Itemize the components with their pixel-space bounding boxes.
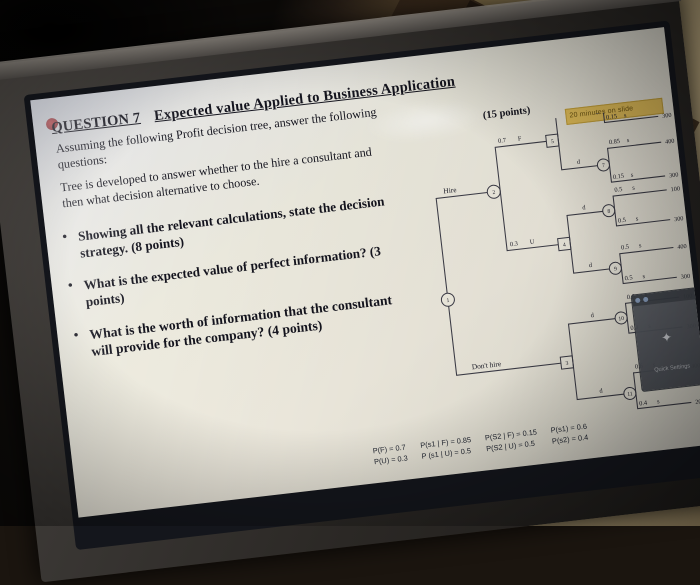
- tree-state-favorable: F: [518, 135, 523, 142]
- widget-dot-icon: [643, 297, 649, 303]
- tree-state-label: s: [632, 184, 636, 191]
- widget-caption: Quick Settings: [644, 362, 700, 374]
- side-popup-window[interactable]: ✦ Quick Settings: [631, 287, 700, 392]
- tree-prob-n9-b: 0.5: [624, 274, 633, 282]
- tree-decision-label: d: [577, 159, 582, 166]
- tree-prob-n7-b: 0.15: [613, 173, 625, 181]
- tree-decision-label: d: [590, 312, 595, 319]
- tree-prob-n7-a: 0.85: [609, 138, 621, 146]
- tree-state-label: s: [642, 273, 646, 280]
- tree-payoff: 100: [670, 185, 680, 193]
- tree-prob-n8-b: 0.5: [618, 217, 627, 225]
- tree-state-label: s: [626, 137, 630, 144]
- tree-prob-n11-b: 0.4: [639, 399, 649, 407]
- laptop-device: QUESTION 7 Expected value Applied to Bus…: [0, 0, 700, 577]
- probability-column: P(s1) = 0.6 P(s2) = 0.4: [550, 421, 589, 448]
- tree-payoff: 300: [669, 171, 679, 179]
- tree-state-label: s: [657, 398, 661, 405]
- tree-node-11: 11: [627, 391, 633, 398]
- tree-state-label: s: [630, 172, 634, 179]
- tree-state-unfavorable: U: [529, 238, 535, 246]
- tree-prob-n9-a: 0.5: [621, 244, 630, 252]
- tree-payoff: 400: [677, 243, 687, 251]
- widget-dot-icon: [635, 298, 641, 304]
- tree-decision-label: d: [599, 387, 604, 394]
- tree-payoff: 300: [674, 215, 684, 223]
- tree-prob-n8-a: 0.5: [614, 186, 623, 194]
- question-label: QUESTION 7: [51, 110, 142, 136]
- tree-node-10: 10: [618, 316, 624, 323]
- tree-decision-label: d: [582, 204, 587, 211]
- tree-decision-label: d: [589, 262, 594, 269]
- tree-prob-unfavorable: 0.3: [510, 240, 519, 248]
- tree-prob-favorable: 0.7: [498, 137, 508, 145]
- tree-state-label: s: [624, 112, 628, 119]
- tree-state-label: s: [635, 215, 639, 222]
- spinner-icon: ✦: [658, 329, 676, 347]
- tree-payoff: 300: [680, 273, 690, 281]
- points-note: (15 points): [482, 105, 531, 121]
- presentation-slide: QUESTION 7 Expected value Applied to Bus…: [30, 27, 700, 518]
- tree-branch-dont-hire-label: Don't hire: [471, 359, 502, 371]
- tree-payoff: 400: [665, 138, 675, 146]
- tree-payoff: 300: [662, 112, 672, 120]
- tree-payoff: 200: [695, 398, 700, 406]
- tree-branch-hire-label: Hire: [443, 185, 458, 196]
- laptop-screen[interactable]: QUESTION 7 Expected value Applied to Bus…: [30, 27, 700, 518]
- probability-column: P(F) = 0.7 P(U) = 0.3: [372, 442, 408, 469]
- tree-state-label: s: [639, 242, 643, 249]
- tree-prob-n6-b: 0.15: [606, 113, 618, 121]
